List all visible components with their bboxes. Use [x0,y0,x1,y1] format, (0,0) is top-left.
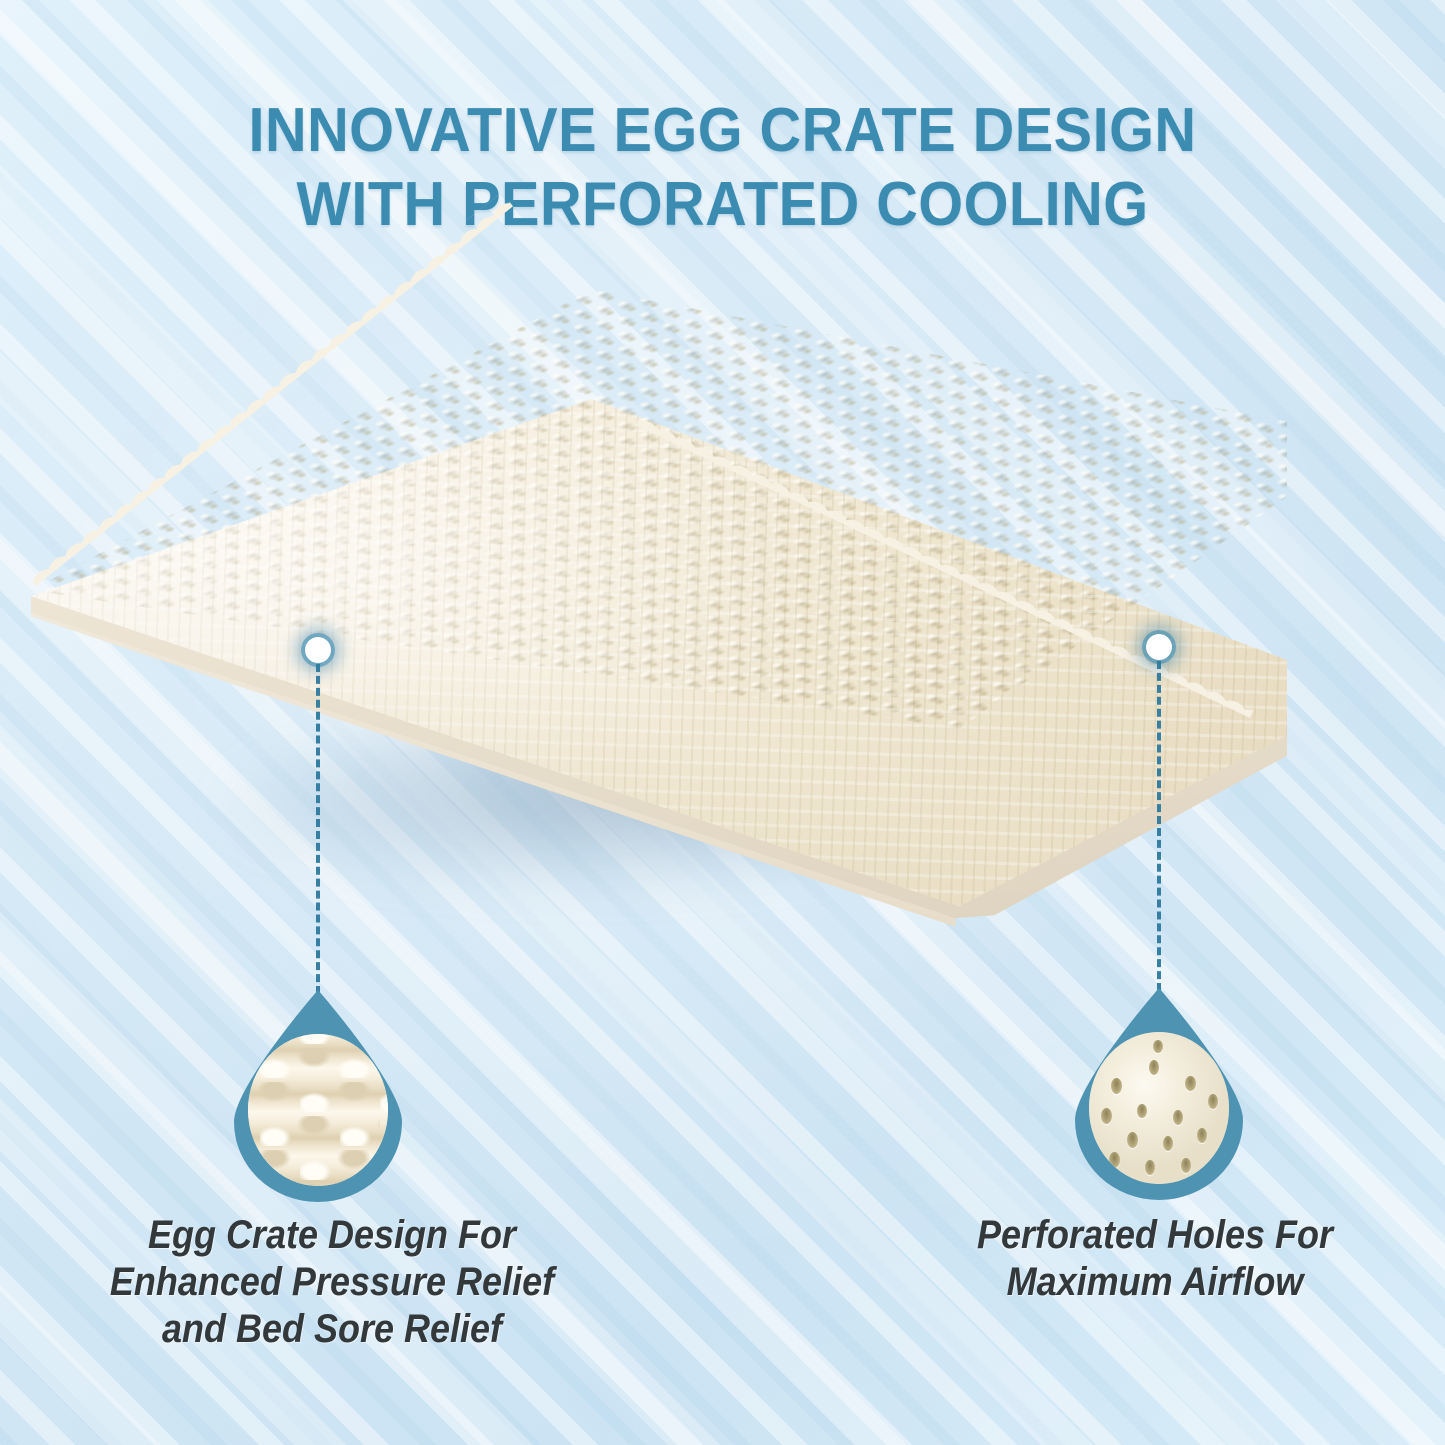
caption-line: Enhanced Pressure Relief [44,1259,620,1306]
wave-row [248,1184,380,1186]
egg-crate-closeup-bubble[interactable] [234,990,402,1202]
wave-row [248,1116,380,1146]
perforated-holes-caption: Perforated Holes For Maximum Airflow [867,1212,1443,1306]
caption-line: Perforated Holes For [867,1212,1443,1259]
egg-crate-marker[interactable] [305,637,331,663]
airflow-hole [1163,1136,1173,1151]
airflow-hole [1127,1132,1138,1148]
airflow-hole [1153,1040,1163,1053]
airflow-hole [1208,1094,1218,1109]
airflow-hole [1197,1128,1207,1143]
airflow-hole [1173,1110,1183,1125]
egg-crate-caption: Egg Crate Design For Enhanced Pressure R… [44,1212,620,1353]
airflow-hole [1137,1104,1147,1118]
caption-line: and Bed Sore Relief [44,1306,620,1353]
infographic-canvas: INNOVATIVE EGG CRATE DESIGN WITH PERFORA… [0,0,1445,1445]
wave-row [248,1150,388,1180]
wave-texture-rows [248,1034,388,1186]
perforated-holes-marker[interactable] [1146,634,1172,660]
caption-line: Egg Crate Design For [44,1212,620,1259]
perforated-texture-swatch [1089,1032,1229,1184]
airflow-hole [1181,1158,1191,1173]
caption-line: Maximum Airflow [867,1259,1443,1306]
airflow-hole [1145,1160,1155,1175]
wave-row [248,1048,380,1078]
egg-crate-texture-swatch [248,1034,388,1186]
perforated-holes-leader-line [1157,661,1161,991]
airflow-hole [1109,1152,1120,1168]
perforated-holes-closeup-bubble[interactable] [1075,988,1243,1200]
wave-row [248,1082,388,1112]
egg-crate-leader-line [316,664,320,994]
airflow-hole [1185,1076,1196,1091]
airflow-hole [1101,1108,1112,1124]
airflow-hole [1149,1060,1159,1075]
airflow-hole [1111,1078,1122,1094]
wave-row [248,1034,388,1044]
